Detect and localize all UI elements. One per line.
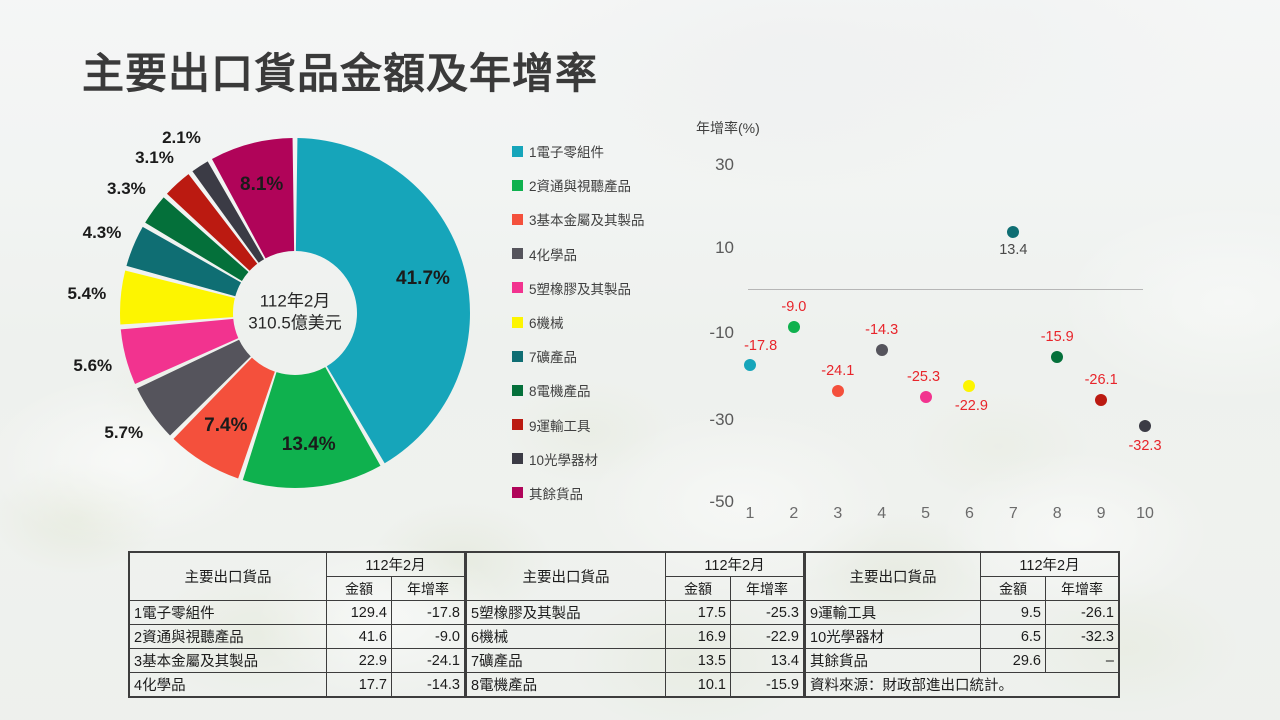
table-row: 4化學品17.7-14.3 (130, 673, 465, 697)
table-cell-amount: 13.5 (666, 649, 731, 673)
scatter-point (1139, 420, 1151, 432)
table-row: 8電機產品10.1-15.9 (467, 673, 804, 697)
scatter-point (1007, 226, 1019, 238)
table-cell-amount: 129.4 (327, 601, 392, 625)
table-cell-growth: – (1046, 649, 1119, 673)
donut-percent-label: 5.6% (73, 356, 112, 376)
legend-item[interactable]: 7礦產品 (512, 339, 692, 373)
legend-item-label: 5塑橡膠及其製品 (529, 278, 631, 298)
table-cell-name: 9運輸工具 (806, 601, 981, 625)
table-cell-growth: -25.3 (731, 601, 804, 625)
table-header-amount: 金額 (327, 577, 392, 601)
scatter-point-label: -25.3 (907, 369, 940, 385)
scatter-point-label: -15.9 (1041, 329, 1074, 345)
scatter-chart: 年增率(%) 3010-10-30-5012345678910-17.8-9.0… (690, 108, 1170, 528)
legend-swatch-icon (512, 317, 523, 328)
scatter-y-axis-title: 年增率(%) (696, 118, 760, 138)
table-cell-amount: 29.6 (981, 649, 1046, 673)
table-row: 5塑橡膠及其製品17.5-25.3 (467, 601, 804, 625)
table-cell-name: 4化學品 (130, 673, 327, 697)
table-header-amount: 金額 (981, 577, 1046, 601)
scatter-point (1051, 351, 1063, 363)
table-cell-growth: -24.1 (392, 649, 465, 673)
table-cell-name: 3基本金屬及其製品 (130, 649, 327, 673)
data-table: 主要出口貨品112年2月金額年增率1電子零組件129.4-17.82資通與視聽產… (129, 552, 465, 697)
donut-percent-label: 2.1% (162, 128, 201, 148)
table-header-name: 主要出口貨品 (467, 553, 666, 601)
table-cell-growth: -32.3 (1046, 625, 1119, 649)
table-cell-amount: 9.5 (981, 601, 1046, 625)
table-cell-amount: 6.5 (981, 625, 1046, 649)
table-header-period: 112年2月 (666, 553, 804, 577)
scatter-y-tick: -50 (690, 492, 734, 512)
scatter-x-tick: 5 (913, 505, 939, 523)
legend-item[interactable]: 9運輸工具 (512, 408, 692, 442)
scatter-point (876, 344, 888, 356)
legend-swatch-icon (512, 282, 523, 293)
legend-swatch-icon (512, 487, 523, 498)
table-cell-growth: -9.0 (392, 625, 465, 649)
legend-item[interactable]: 5塑橡膠及其製品 (512, 271, 692, 305)
legend-swatch-icon (512, 453, 523, 464)
donut-percent-label: 4.3% (83, 223, 122, 243)
table-header-name: 主要出口貨品 (130, 553, 327, 601)
scatter-zero-line (748, 289, 1143, 290)
scatter-point-label: -26.1 (1085, 372, 1118, 388)
scatter-point (963, 380, 975, 392)
table-cell-name: 8電機產品 (467, 673, 666, 697)
scatter-x-tick: 4 (869, 505, 895, 523)
scatter-x-tick: 3 (825, 505, 851, 523)
table-row: 7礦產品13.513.4 (467, 649, 804, 673)
table-header-period: 112年2月 (981, 553, 1119, 577)
legend-item-label: 其餘貨品 (529, 483, 583, 503)
legend-item-label: 6機械 (529, 312, 564, 332)
legend-swatch-icon (512, 146, 523, 157)
table-source-note: 資料來源：財政部進出口統計。 (806, 673, 1119, 697)
scatter-y-tick: -10 (690, 323, 734, 343)
table-cell-name: 5塑橡膠及其製品 (467, 601, 666, 625)
legend-item[interactable]: 2資通與視聽產品 (512, 168, 692, 202)
legend-item[interactable]: 10光學器材 (512, 442, 692, 476)
legend-swatch-icon (512, 248, 523, 259)
scatter-x-tick: 2 (781, 505, 807, 523)
table-header-period: 112年2月 (327, 553, 465, 577)
donut-center-label: 112年2月 310.5億美元 (248, 291, 342, 336)
donut-percent-label: 41.7% (396, 268, 450, 290)
legend-item-label: 9運輸工具 (529, 415, 591, 435)
table-cell-growth: -26.1 (1046, 601, 1119, 625)
donut-percent-label: 5.4% (67, 284, 106, 304)
legend-item[interactable]: 4化學品 (512, 237, 692, 271)
table-cell-amount: 17.7 (327, 673, 392, 697)
legend-item-label: 8電機產品 (529, 380, 591, 400)
data-tables: 主要出口貨品112年2月金額年增率1電子零組件129.4-17.82資通與視聽產… (128, 551, 1156, 698)
data-table: 主要出口貨品112年2月金額年增率5塑橡膠及其製品17.5-25.36機械16.… (466, 552, 804, 697)
donut-percent-label: 3.3% (107, 179, 146, 199)
table-row: 3基本金屬及其製品22.9-24.1 (130, 649, 465, 673)
legend-item[interactable]: 8電機產品 (512, 373, 692, 407)
table-source-row: 資料來源：財政部進出口統計。 (806, 673, 1119, 697)
table-row: 2資通與視聽產品41.6-9.0 (130, 625, 465, 649)
legend-item[interactable]: 其餘貨品 (512, 476, 692, 510)
scatter-point-label: -9.0 (781, 299, 806, 315)
scatter-x-tick: 8 (1044, 505, 1070, 523)
scatter-x-tick: 10 (1132, 505, 1158, 523)
scatter-y-tick: 30 (690, 155, 734, 175)
scatter-point (920, 391, 932, 403)
scatter-point-label: -22.9 (955, 398, 988, 414)
donut-percent-label: 7.4% (204, 415, 247, 437)
legend-swatch-icon (512, 419, 523, 430)
table-row: 6機械16.9-22.9 (467, 625, 804, 649)
table-cell-amount: 10.1 (666, 673, 731, 697)
scatter-point-label: -14.3 (865, 322, 898, 338)
table-cell-name: 7礦產品 (467, 649, 666, 673)
donut-percent-label: 5.7% (104, 423, 143, 443)
legend-item-label: 4化學品 (529, 244, 577, 264)
table-cell-name: 10光學器材 (806, 625, 981, 649)
scatter-point (832, 385, 844, 397)
scatter-x-tick: 9 (1088, 505, 1114, 523)
page-title: 主要出口貨品金額及年增率 (82, 40, 598, 101)
scatter-x-tick: 6 (956, 505, 982, 523)
scatter-point-label: -32.3 (1128, 438, 1161, 454)
legend-item[interactable]: 3基本金屬及其製品 (512, 202, 692, 236)
data-table: 主要出口貨品112年2月金額年增率9運輸工具9.5-26.110光學器材6.5-… (805, 552, 1119, 697)
table-header-name: 主要出口貨品 (806, 553, 981, 601)
legend-item-label: 2資通與視聽產品 (529, 175, 631, 195)
table-row: 1電子零組件129.4-17.8 (130, 601, 465, 625)
legend-item-label: 10光學器材 (529, 449, 598, 469)
scatter-y-tick: -30 (690, 410, 734, 430)
chart-legend: 1電子零組件2資通與視聽產品3基本金屬及其製品4化學品5塑橡膠及其製品6機械7礦… (512, 134, 692, 510)
legend-swatch-icon (512, 385, 523, 396)
legend-item-label: 7礦產品 (529, 346, 577, 366)
table-cell-name: 其餘貨品 (806, 649, 981, 673)
table-cell-amount: 41.6 (327, 625, 392, 649)
legend-item-label: 1電子零組件 (529, 141, 604, 161)
table-cell-amount: 16.9 (666, 625, 731, 649)
table-cell-amount: 22.9 (327, 649, 392, 673)
donut-percent-label: 13.4% (282, 434, 336, 456)
legend-swatch-icon (512, 351, 523, 362)
table-cell-growth: 13.4 (731, 649, 804, 673)
table-header-amount: 金額 (666, 577, 731, 601)
legend-item[interactable]: 1電子零組件 (512, 134, 692, 168)
scatter-x-tick: 1 (737, 505, 763, 523)
legend-swatch-icon (512, 180, 523, 191)
table-cell-name: 6機械 (467, 625, 666, 649)
table-header-growth: 年增率 (731, 577, 804, 601)
table-row: 9運輸工具9.5-26.1 (806, 601, 1119, 625)
scatter-point (1095, 394, 1107, 406)
table-cell-name: 2資通與視聽產品 (130, 625, 327, 649)
legend-item[interactable]: 6機械 (512, 305, 692, 339)
scatter-point-label: 13.4 (999, 242, 1027, 258)
table-header-growth: 年增率 (392, 577, 465, 601)
table-cell-growth: -22.9 (731, 625, 804, 649)
scatter-point (744, 359, 756, 371)
scatter-y-tick: 10 (690, 238, 734, 258)
donut-percent-label: 8.1% (240, 174, 283, 196)
table-header-growth: 年增率 (1046, 577, 1119, 601)
table-row: 其餘貨品29.6– (806, 649, 1119, 673)
legend-item-label: 3基本金屬及其製品 (529, 209, 645, 229)
table-cell-growth: -15.9 (731, 673, 804, 697)
scatter-point-label: -24.1 (821, 363, 854, 379)
donut-center-line1: 112年2月 (248, 291, 342, 313)
scatter-x-tick: 7 (1000, 505, 1026, 523)
scatter-point-label: -17.8 (744, 338, 777, 354)
table-cell-amount: 17.5 (666, 601, 731, 625)
donut-center-line2: 310.5億美元 (248, 313, 342, 335)
donut-percent-label: 3.1% (135, 148, 174, 168)
table-row: 10光學器材6.5-32.3 (806, 625, 1119, 649)
legend-swatch-icon (512, 214, 523, 225)
scatter-point (788, 321, 800, 333)
table-cell-growth: -17.8 (392, 601, 465, 625)
table-cell-name: 1電子零組件 (130, 601, 327, 625)
table-cell-growth: -14.3 (392, 673, 465, 697)
